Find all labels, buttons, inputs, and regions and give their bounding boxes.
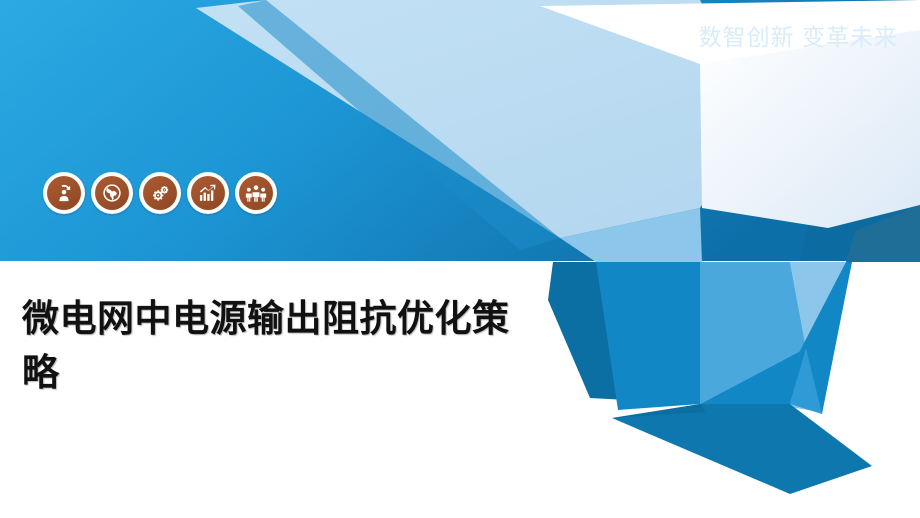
bar-chart-growth-icon: [191, 176, 225, 210]
gears-icon: [143, 176, 177, 210]
icon-badge-person-refresh[interactable]: [43, 172, 85, 214]
people-group-icon: [239, 176, 273, 210]
icon-badge-bar-chart-growth[interactable]: [187, 172, 229, 214]
icon-badge-globe[interactable]: [91, 172, 133, 214]
icon-row: [43, 172, 277, 214]
title-block: 微电网中电源输出阻抗优化策略: [22, 292, 542, 399]
poly-ribbon: [612, 404, 872, 494]
poly-lavender: [700, 30, 920, 228]
page-title: 微电网中电源输出阻抗优化策略: [22, 292, 542, 399]
icon-badge-gears[interactable]: [139, 172, 181, 214]
globe-icon: [95, 176, 129, 210]
background-polygon-art: [0, 0, 920, 518]
slide-canvas: 数智创新 变革未来: [0, 0, 920, 518]
tagline-text: 数智创新 变革未来: [699, 26, 898, 49]
person-refresh-icon: [47, 176, 81, 210]
icon-badge-people-group[interactable]: [235, 172, 277, 214]
